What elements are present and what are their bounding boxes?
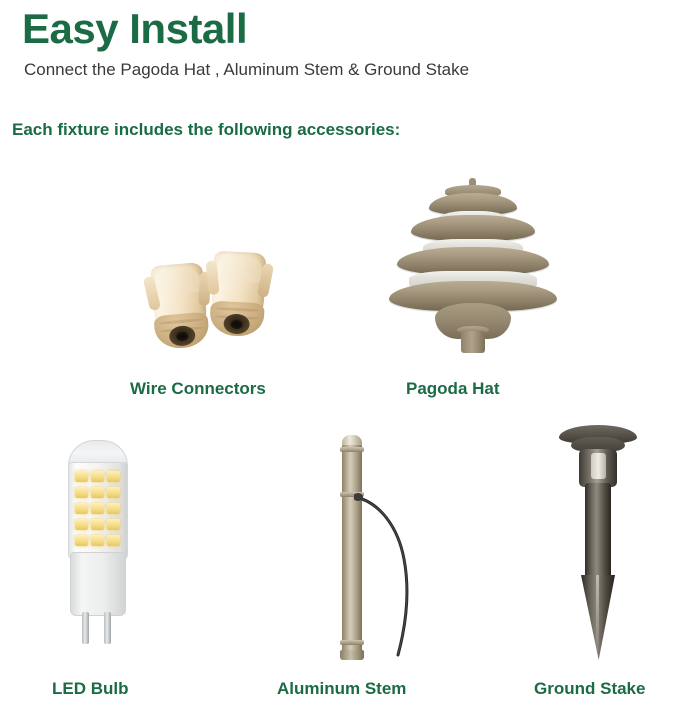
stake-highlight-edge [596,575,599,657]
connector-shoulder [152,266,202,296]
page-title: Easy Install [22,6,247,52]
led-chip [75,519,88,530]
stem-band [340,640,364,645]
stake-shaft [585,483,611,581]
led-chip [91,487,104,498]
wire-connector-right [210,251,267,346]
led-chip [107,535,120,546]
led-chip [91,471,104,482]
led-chip [75,487,88,498]
accessories-heading: Each fixture includes the following acce… [12,120,400,140]
stem-band [340,447,364,452]
led-chip [75,535,88,546]
led-chip [91,535,104,546]
caption-wire-connectors: Wire Connectors [130,379,266,399]
stem-foot [340,650,364,660]
stem-power-cable [354,493,438,658]
led-chip [75,471,88,482]
led-chip [107,503,120,514]
stem-band [340,492,364,497]
wire-connector-left [150,262,210,358]
led-chip [107,487,120,498]
wire-connectors-image [150,250,290,360]
led-chip [107,519,120,530]
page-subtitle: Connect the Pagoda Hat , Aluminum Stem &… [24,60,469,80]
led-base-housing [70,552,126,616]
caption-led-bulb: LED Bulb [52,679,129,699]
caption-pagoda-hat: Pagoda Hat [406,379,500,399]
led-pin-right [104,612,111,644]
stake-slot [591,453,606,479]
pagoda-tier-2 [411,215,535,241]
caption-ground-stake: Ground Stake [534,679,645,699]
led-chip [107,471,120,482]
led-bulb-image [60,440,140,655]
stem-shaft [342,445,362,659]
pagoda-neck [461,331,485,353]
pagoda-hat-image [383,185,563,360]
led-chip [91,503,104,514]
caption-aluminum-stem: Aluminum Stem [277,679,406,699]
connector-shoulder [215,255,264,283]
led-body [68,462,128,559]
ground-stake-image [555,425,665,660]
led-pin-left [82,612,89,644]
aluminum-stem-image [320,435,450,665]
led-chip [75,503,88,514]
easy-install-infographic: Easy Install Connect the Pagoda Hat , Al… [0,0,679,702]
led-chip [91,519,104,530]
